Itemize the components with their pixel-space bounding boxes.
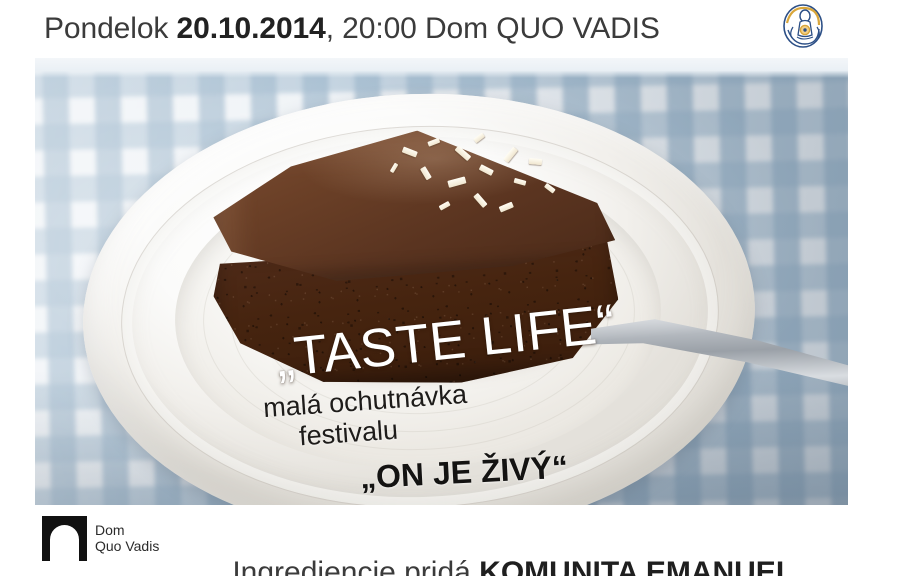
header-bar: Pondelok 20.10.2014 , 20:00 Dom QUO VADI…	[0, 0, 900, 58]
dom-quo-vadis-wordmark: Dom Quo Vadis	[95, 523, 159, 554]
header-date: 20.10.2014	[177, 14, 326, 44]
dom-quo-vadis-logo: Dom Quo Vadis	[42, 516, 159, 561]
logo-line-2: Quo Vadis	[95, 539, 159, 555]
logo-line-1: Dom	[95, 523, 159, 539]
dom-quo-vadis-arch-icon	[42, 516, 87, 561]
footer-credit-org: KOMUNITA EMANUEL	[479, 556, 794, 576]
white-chocolate-shaving	[473, 133, 485, 144]
cake-photograph: „TASTE LIFE“ malá ochutnávka festivalu „…	[35, 58, 848, 505]
poster: Pondelok 20.10.2014 , 20:00 Dom QUO VADI…	[0, 0, 900, 576]
photo-top-highlight-band	[35, 58, 848, 78]
header-time-venue: , 20:00 Dom QUO VADIS	[326, 14, 660, 44]
quo-vadis-emblem-icon	[781, 3, 825, 49]
white-chocolate-shaving	[503, 147, 518, 163]
footer-credit: Ingrediencie pridá KOMUNITA EMANUEL	[199, 519, 794, 576]
fork-icon	[591, 288, 848, 408]
fork-highlight	[591, 288, 848, 408]
white-chocolate-shaving	[529, 158, 542, 165]
header-day-label: Pondelok	[44, 14, 177, 44]
footer-credit-prefix: Ingrediencie pridá	[232, 556, 479, 576]
